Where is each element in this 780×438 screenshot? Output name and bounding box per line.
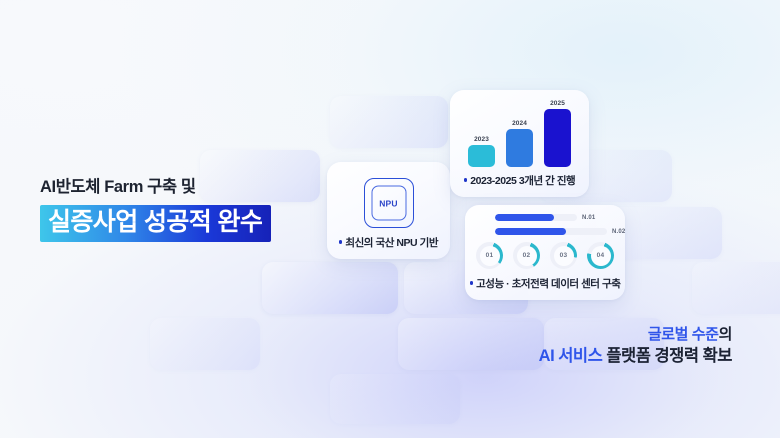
ring-gauge-label: 04 (597, 252, 605, 259)
slide-canvas: AI반도체 Farm 구축 및 실증사업 성공적 완수 NPU 최신의 국산 N… (0, 0, 780, 438)
ring-gauge-center: 04 (591, 246, 611, 266)
progress-fill (495, 228, 566, 235)
card-chart-caption-text: 2023-2025 3개년 간 진행 (470, 175, 575, 187)
bar-value-label: 2025 (550, 100, 565, 107)
tagline-line-2-accent: AI 서비스 (539, 347, 603, 365)
headline-line-2: 실증사업 성공적 완수 (48, 209, 262, 236)
progress-bar-n02: N.02 (495, 228, 625, 235)
progress-fill (495, 214, 554, 221)
background-brick (150, 318, 260, 370)
ring-gauge-label: 01 (486, 252, 494, 259)
headline-block: AI반도체 Farm 구축 및 실증사업 성공적 완수 (40, 178, 271, 242)
progress-label: N.01 (582, 215, 595, 221)
ring-gauge-label: 02 (523, 252, 531, 259)
headline-highlight-bar: 실증사업 성공적 완수 (40, 205, 271, 242)
progress-label: N.02 (612, 229, 625, 235)
tagline-line-2-tail: 플랫폼 경쟁력 확보 (602, 347, 732, 365)
background-brick (330, 374, 460, 424)
tagline-line-1-accent: 글로벌 수준 (648, 326, 719, 343)
ring-gauge-center: 03 (554, 246, 574, 266)
ring-gauge-01: 01 (476, 242, 503, 269)
tagline-line-2: AI 서비스 플랫폼 경쟁력 확보 (539, 345, 732, 367)
background-brick (262, 262, 398, 314)
tagline-block: 글로벌 수준의 AI 서비스 플랫폼 경쟁력 확보 (539, 325, 732, 368)
npu-chip-icon: NPU (364, 178, 414, 228)
card-datacenter[interactable]: N.01N.02 01020304 고성능 · 초저전력 데이터 센터 구축 (465, 205, 625, 300)
bar-column: 2025 (544, 100, 571, 168)
progress-track (495, 214, 577, 221)
card-npu[interactable]: NPU 최신의 국산 NPU 기반 (327, 162, 450, 259)
card-datacenter-caption-text: 고성능 · 초저전력 데이터 센터 구축 (476, 278, 620, 290)
card-npu-caption-text: 최신의 국산 NPU 기반 (345, 237, 438, 249)
npu-chip-inner: NPU (371, 186, 406, 221)
card-timeline-chart[interactable]: 202320242025 2023-2025 3개년 간 진행 (450, 90, 589, 197)
progress-bar-n01: N.01 (495, 214, 595, 221)
background-brick (398, 318, 544, 370)
headline-line-1: AI반도체 Farm 구축 및 (40, 178, 271, 198)
ring-gauge-center: 02 (517, 246, 537, 266)
card-chart-caption: 2023-2025 3개년 간 진행 (450, 173, 589, 188)
ring-gauge-center: 01 (480, 246, 500, 266)
bar-2023 (468, 145, 495, 167)
bar-2025 (544, 109, 571, 167)
ring-gauge-label: 03 (560, 252, 568, 259)
bar-value-label: 2023 (474, 136, 489, 143)
card-datacenter-caption: 고성능 · 초저전력 데이터 센터 구축 (465, 276, 625, 291)
bar-value-label: 2024 (512, 120, 527, 127)
bar-2024 (506, 129, 533, 167)
progress-track (495, 228, 607, 235)
ring-gauge-02: 02 (513, 242, 540, 269)
bullet-icon (464, 178, 468, 182)
background-brick (330, 96, 448, 148)
tagline-line-1-tail: 의 (719, 326, 732, 343)
card-npu-caption: 최신의 국산 NPU 기반 (327, 235, 450, 250)
ring-gauge-04: 04 (587, 242, 614, 269)
bullet-icon (470, 281, 474, 285)
bar-column: 2024 (506, 120, 533, 168)
bar-chart: 202320242025 (462, 104, 577, 167)
bar-column: 2023 (468, 136, 495, 168)
tagline-line-1: 글로벌 수준의 (539, 325, 732, 345)
ring-gauge-03: 03 (550, 242, 577, 269)
ring-gauge-group: 01020304 (476, 242, 614, 269)
bullet-icon (339, 240, 343, 244)
npu-chip-label: NPU (379, 198, 398, 208)
background-brick (692, 262, 780, 314)
